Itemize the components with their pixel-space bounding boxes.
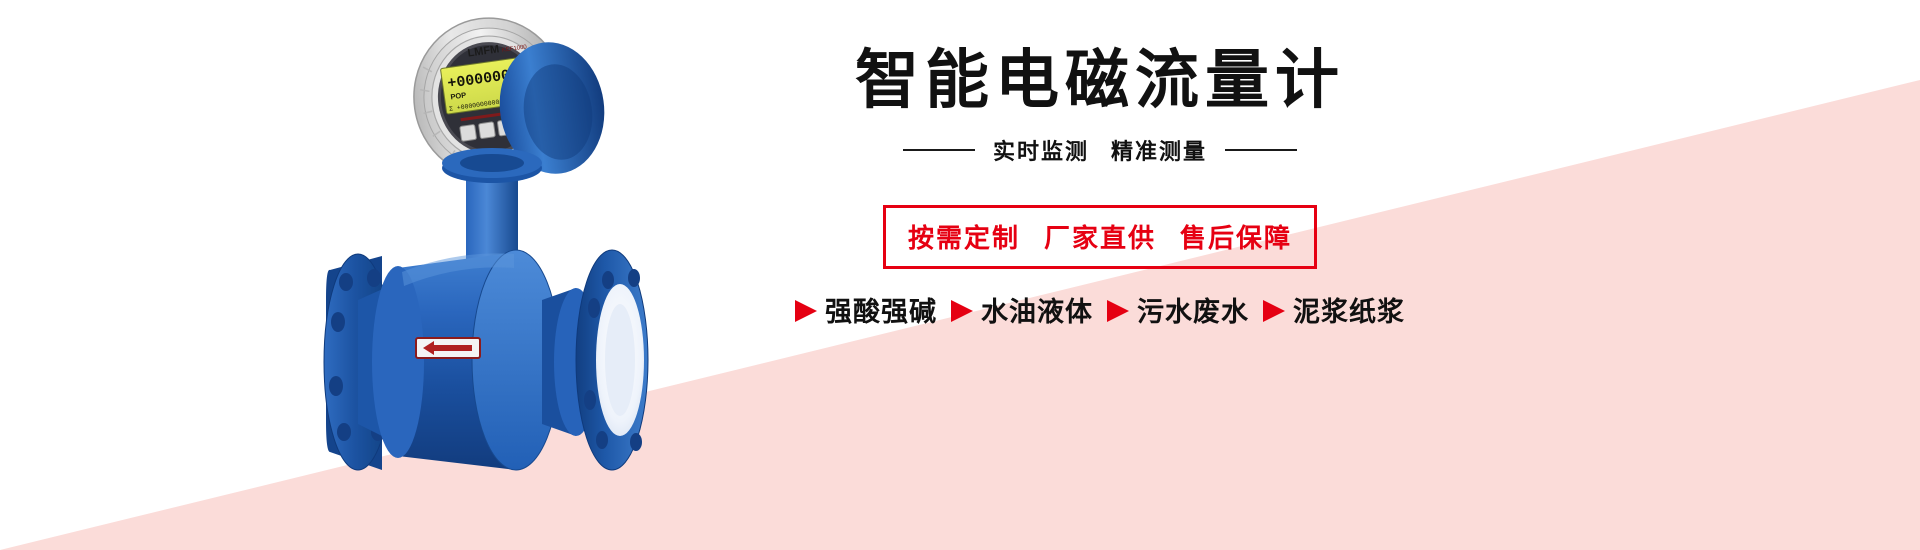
feature-item-1: 强酸强碱 bbox=[795, 290, 937, 329]
page-title: 智能电磁流量计 bbox=[600, 45, 1600, 115]
subtitle-right: 精准测量 bbox=[1111, 139, 1207, 164]
promo-row: 按需定制厂家直供售后保障 bbox=[600, 205, 1600, 269]
meter-neck bbox=[442, 148, 542, 260]
rule-right bbox=[1225, 149, 1297, 151]
promo-item-2: 厂家直供 bbox=[1044, 223, 1156, 253]
feature-label-1: 强酸强碱 bbox=[825, 290, 937, 329]
subtitle-row: 实时监测精准测量 bbox=[600, 134, 1600, 166]
arrow-right-icon bbox=[1107, 300, 1129, 322]
arrow-right-icon bbox=[795, 300, 817, 322]
subtitle-text: 实时监测精准测量 bbox=[993, 134, 1207, 166]
feature-item-3: 污水废水 bbox=[1107, 290, 1249, 329]
feature-item-2: 水油液体 bbox=[951, 290, 1093, 329]
promo-banner: LMFM KEF1000 +0000000 POP m3/h Σ +000000… bbox=[0, 0, 1920, 550]
rule-left bbox=[903, 149, 975, 151]
flow-direction-label bbox=[416, 338, 480, 358]
feature-label-3: 污水废水 bbox=[1137, 290, 1249, 329]
subtitle-left: 实时监测 bbox=[993, 139, 1089, 164]
banner-content: 智能电磁流量计 实时监测精准测量 按需定制厂家直供售后保障 强酸强碱 水油液体 … bbox=[600, 0, 1600, 550]
promo-item-3: 售后保障 bbox=[1180, 223, 1292, 253]
arrow-right-icon bbox=[951, 300, 973, 322]
arrow-right-icon bbox=[1263, 300, 1285, 322]
promo-badge: 按需定制厂家直供售后保障 bbox=[883, 205, 1317, 269]
feature-label-2: 水油液体 bbox=[981, 290, 1093, 329]
promo-item-1: 按需定制 bbox=[908, 223, 1020, 253]
feature-list: 强酸强碱 水油液体 污水废水 泥浆纸浆 bbox=[600, 290, 1600, 329]
feature-item-4: 泥浆纸浆 bbox=[1263, 290, 1405, 329]
feature-label-4: 泥浆纸浆 bbox=[1293, 290, 1405, 329]
